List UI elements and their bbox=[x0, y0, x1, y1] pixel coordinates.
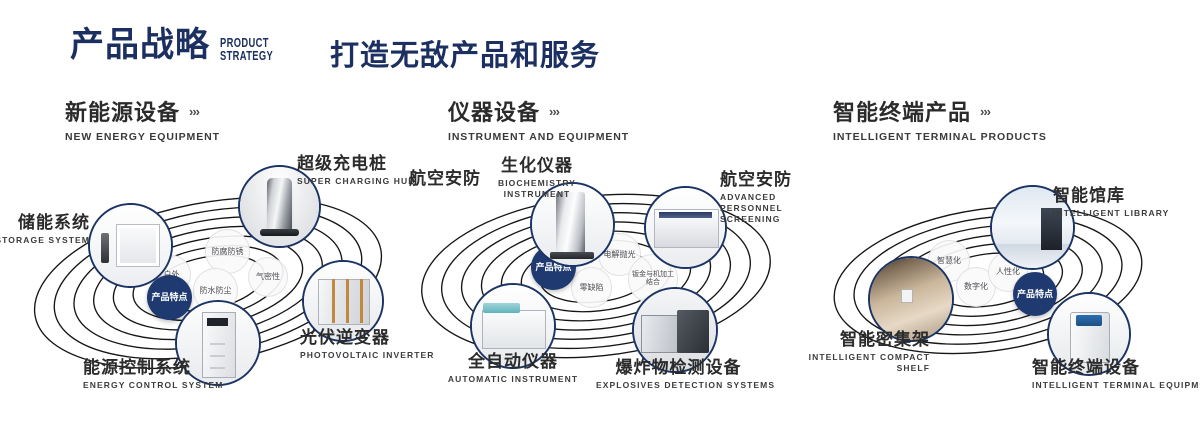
product-label-intelligent-terminal-equipment: 智能终端设备 INTELLIGENT TERMINAL EQUIPMENT bbox=[1032, 358, 1200, 391]
product-label-aviation-security: 航空安防 bbox=[409, 169, 481, 189]
product-label-en: INTELLIGENT COMPACT SHELF bbox=[790, 352, 930, 374]
section-heading-cn-wrap: 仪器设备 ››› bbox=[448, 95, 629, 127]
cluster-new-energy: 户外 防腐防锈 防水防尘 气密性 产品特点 超级充电桩 SUPER CHARGI… bbox=[5, 150, 405, 410]
feature-bubble-label: 防水防尘 bbox=[200, 286, 232, 295]
product-label-cn: 航空安防 bbox=[409, 169, 481, 189]
section-heading-en: INTELLIGENT TERMINAL PRODUCTS bbox=[833, 131, 1047, 143]
product-label-intelligent-compact-shelf: 智能密集架 INTELLIGENT COMPACT SHELF bbox=[790, 330, 930, 374]
feature-bubble-airtight[interactable]: 气密性 bbox=[248, 257, 288, 297]
product-label-energy-storage-system: 储能系统 ENERGY STORAGE SYSTEM bbox=[0, 213, 90, 246]
product-label-cn: 生化仪器 bbox=[472, 156, 602, 176]
section-heading-cn: 智能终端产品 bbox=[833, 95, 971, 127]
product-label-super-charging-hub: 超级充电桩 SUPER CHARGING HUB bbox=[297, 154, 416, 187]
feature-bubble-label: 产品特点 bbox=[1017, 289, 1053, 299]
energy-storage-cabinet-photo bbox=[90, 205, 171, 286]
chevron-triple-icon: ››› bbox=[980, 104, 990, 119]
product-label-cn: 储能系统 bbox=[0, 213, 90, 233]
product-label-en: INTELLIGENT TERMINAL EQUIPMENT bbox=[1032, 380, 1200, 391]
section-heading-intelligent-terminal: 智能终端产品 ››› INTELLIGENT TERMINAL PRODUCTS bbox=[833, 95, 1047, 143]
section-heading-en: NEW ENERGY EQUIPMENT bbox=[65, 131, 220, 143]
product-label-en: ENERGY STORAGE SYSTEM bbox=[0, 235, 90, 246]
section-heading-instrument: 仪器设备 ››› INSTRUMENT AND EQUIPMENT bbox=[448, 95, 629, 143]
product-label-explosives-detection-systems: 爆炸物检测设备 EXPLOSIVES DETECTION SYSTEMS bbox=[596, 358, 761, 391]
product-label-cn: 超级充电桩 bbox=[297, 154, 416, 174]
product-label-en: EXPLOSIVES DETECTION SYSTEMS bbox=[596, 380, 761, 391]
section-heading-cn-wrap: 新能源设备 ››› bbox=[65, 95, 220, 127]
cluster-intelligent-terminal: 智慧化 数字化 人性化 产品特点 智能馆库 INTELLIGENT LIBRAR… bbox=[800, 150, 1200, 410]
chevron-triple-icon: ››› bbox=[549, 104, 559, 119]
product-label-cn: 智能终端设备 bbox=[1032, 358, 1200, 378]
masthead-title-en: PRODUCT STRATEGY bbox=[220, 36, 273, 62]
feature-bubble-label: 防腐防锈 bbox=[212, 247, 244, 256]
masthead-tagline: 打造无敌产品和服务 bbox=[330, 32, 600, 74]
product-label-energy-control-system: 能源控制系统 ENERGY CONTROL SYSTEM bbox=[83, 358, 223, 391]
masthead-title-cn: 产品战略 bbox=[70, 26, 210, 64]
product-label-en: ENERGY CONTROL SYSTEM bbox=[83, 380, 223, 391]
product-label-cn: 智能馆库 bbox=[1053, 186, 1169, 206]
product-label-en: BIOCHEMISTRY INSTRUMENT bbox=[472, 178, 602, 200]
section-heading-en: INSTRUMENT AND EQUIPMENT bbox=[448, 131, 629, 143]
product-label-cn: 爆炸物检测设备 bbox=[596, 358, 761, 378]
masthead: 产品战略 PRODUCT STRATEGY bbox=[70, 26, 294, 64]
section-heading-cn: 仪器设备 bbox=[448, 95, 540, 127]
chevron-triple-icon: ››› bbox=[189, 104, 199, 119]
feature-bubble-label: 钣金与机加工结合 bbox=[629, 271, 677, 287]
product-strategy-infographic: 产品战略 PRODUCT STRATEGY 打造无敌产品和服务 新能源设备 ››… bbox=[0, 0, 1200, 422]
product-label-cn: 能源控制系统 bbox=[83, 358, 223, 378]
section-heading-new-energy: 新能源设备 ››› NEW ENERGY EQUIPMENT bbox=[65, 95, 220, 143]
product-label-intelligent-library: 智能馆库 INTELLIGENT LIBRARY bbox=[1053, 186, 1169, 219]
section-heading-cn: 新能源设备 bbox=[65, 95, 180, 127]
masthead-title-en-line2: STRATEGY bbox=[220, 49, 273, 62]
product-label-en: INTELLIGENT LIBRARY bbox=[1053, 208, 1169, 219]
compact-shelf-photo bbox=[870, 258, 952, 340]
product-circle-personnel-screening[interactable] bbox=[644, 186, 727, 269]
product-label-cn: 智能密集架 bbox=[790, 330, 930, 350]
section-heading-cn-wrap: 智能终端产品 ››› bbox=[833, 95, 1047, 127]
product-label-en: AUTOMATIC INSTRUMENT bbox=[438, 374, 588, 385]
product-circle-energy-storage[interactable] bbox=[88, 203, 173, 288]
product-label-biochemistry-instrument: 生化仪器 BIOCHEMISTRY INSTRUMENT bbox=[472, 156, 602, 200]
product-label-cn: 全自动仪器 bbox=[438, 352, 588, 372]
screening-machine-photo bbox=[646, 188, 725, 267]
product-label-automatic-instrument: 全自动仪器 AUTOMATIC INSTRUMENT bbox=[438, 352, 588, 385]
feature-bubble-zero-defect[interactable]: 零缺陷 bbox=[571, 267, 612, 308]
product-label-en: SUPER CHARGING HUB bbox=[297, 176, 416, 187]
cluster-instrument: 镜面 电解抛光 零缺陷 钣金与机加工结合 产品特点 生化仪器 BIOCHEMIS… bbox=[400, 150, 800, 410]
